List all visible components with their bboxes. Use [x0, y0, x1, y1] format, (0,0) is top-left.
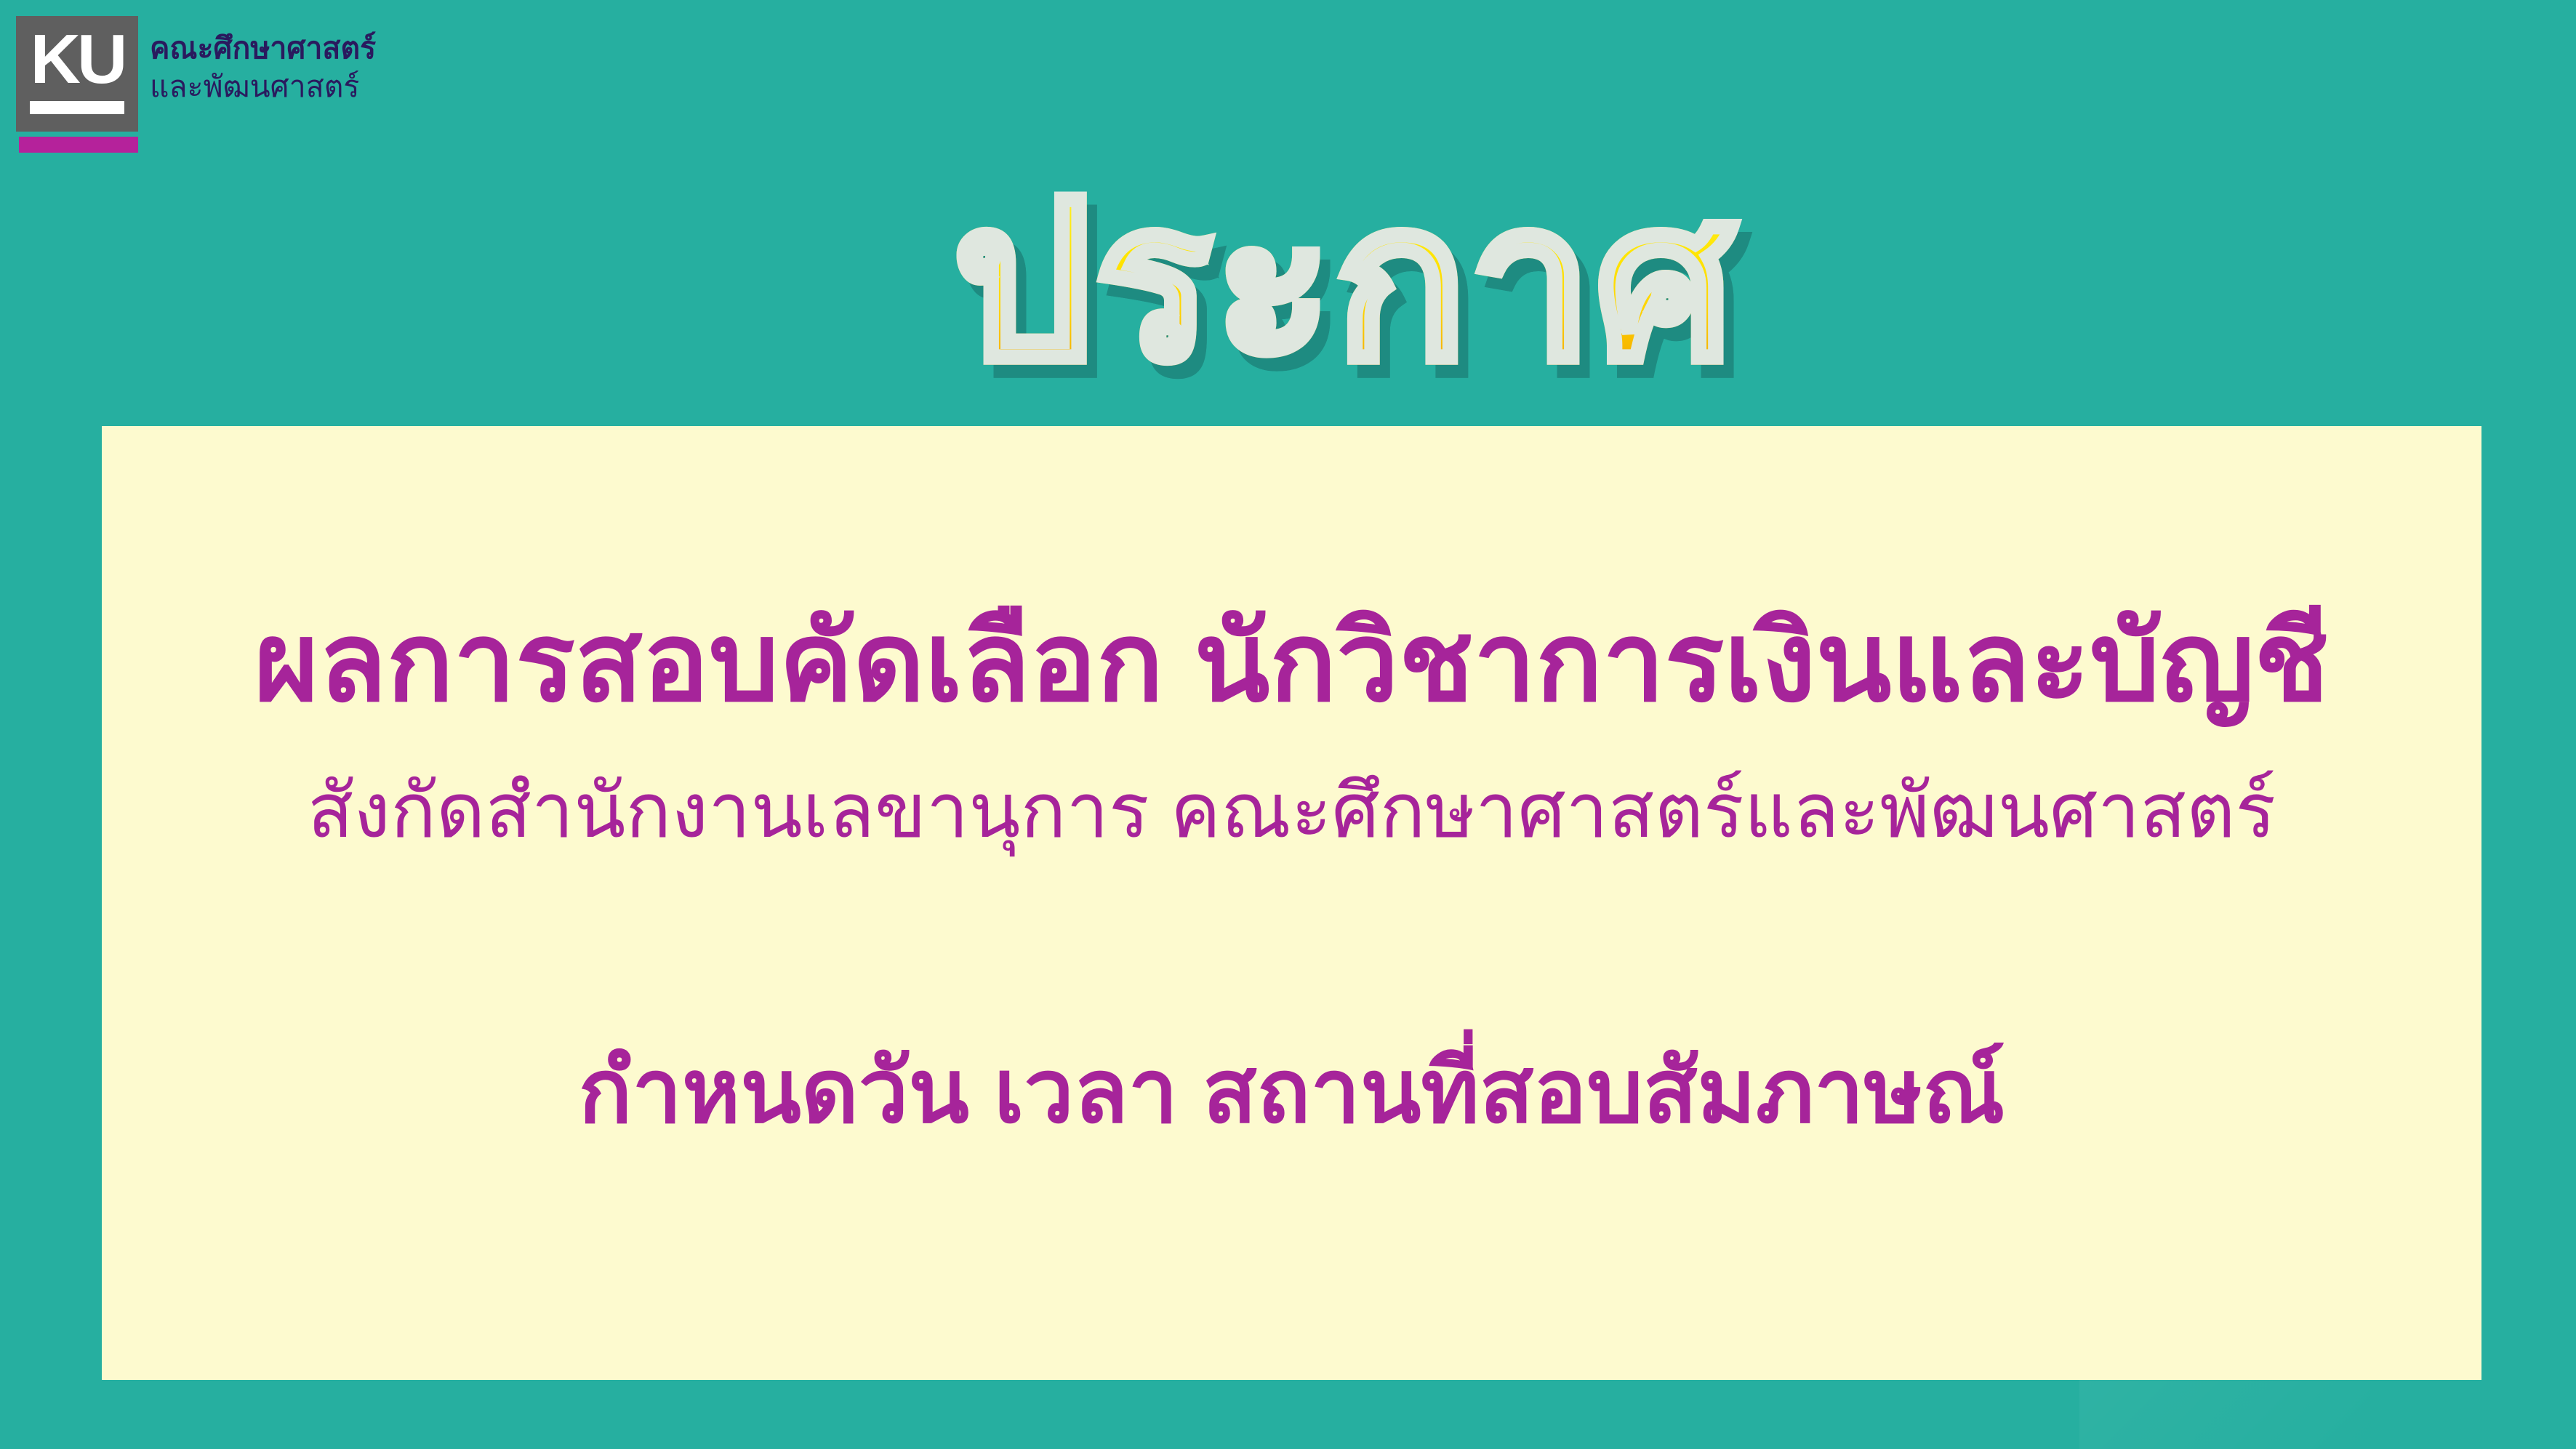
- poster-title-text: ประกาศ: [953, 170, 1736, 393]
- ku-monogram-text: KU: [16, 22, 138, 97]
- announcement-poster: KU คณะศึกษาศาสตร์ และพัฒนศาสตร์ ประกาศ ผ…: [0, 0, 2576, 1449]
- ku-logo-box: KU: [16, 16, 138, 132]
- ku-logo-white-bar: [30, 101, 124, 114]
- faculty-name-line-1: คณะศึกษาศาสตร์: [150, 29, 462, 67]
- poster-title: ประกาศ: [596, 15, 2094, 393]
- content-note: กำหนดวัน เวลา สถานที่สอบสัมภาษณ์: [102, 1029, 2481, 1153]
- ku-faculty-logo: KU คณะศึกษาศาสตร์ และพัฒนศาสตร์: [15, 13, 465, 162]
- content-card: ผลการสอบคัดเลือก นักวิชาการเงินและบัญชี …: [102, 426, 2481, 1380]
- faculty-name-block: คณะศึกษาศาสตร์ และพัฒนศาสตร์: [150, 29, 462, 106]
- faculty-name-line-2: และพัฒนศาสตร์: [150, 67, 462, 106]
- content-subheading: สังกัดสำนักงานเลขานุการ คณะศึกษาศาสตร์แล…: [102, 757, 2481, 866]
- ku-logo-magenta-bar: [19, 137, 138, 153]
- content-heading: ผลการสอบคัดเลือก นักวิชาการเงินและบัญชี: [102, 593, 2481, 731]
- ku-logo-mark: KU: [16, 16, 138, 151]
